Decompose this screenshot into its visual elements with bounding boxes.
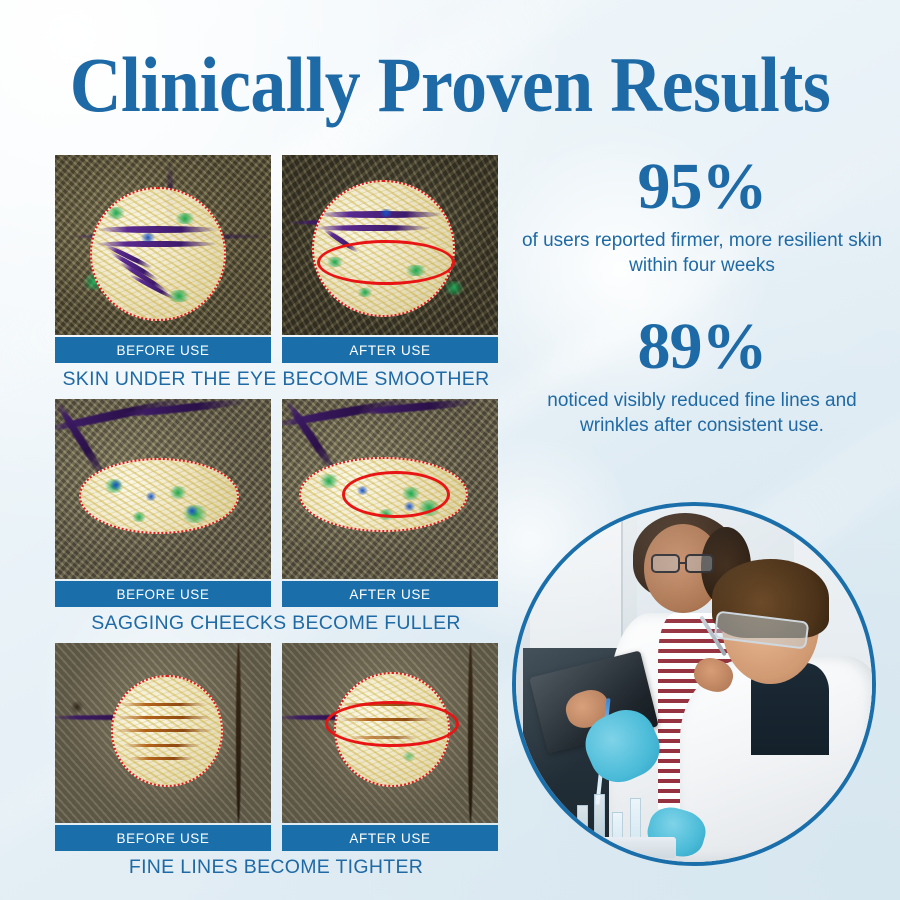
before-use-label: BEFORE USE [55,825,271,851]
eyeglasses-icon [651,554,679,573]
poster-canvas: Clinically Proven Results [0,0,900,900]
before-use-label: BEFORE USE [55,581,271,607]
stat-value: 95% [512,152,892,222]
comparison-row: BEFORE USE [55,155,497,391]
row-caption: SKIN UNDER THE EYE BECOME SMOOTHER [55,363,497,391]
comparison-row: BEFORE USE [55,399,497,635]
after-use-label: AFTER USE [282,825,498,851]
eyeglasses-icon [685,554,713,573]
before-use-label: BEFORE USE [55,337,271,363]
analysis-region [79,458,239,534]
after-panel: AFTER USE [282,399,498,607]
analysis-region [299,457,467,533]
after-use-label: AFTER USE [282,581,498,607]
after-photo [282,399,498,579]
stat-description: noticed visibly reduced fine lines and w… [512,382,892,438]
row-caption: FINE LINES BECOME TIGHTER [55,851,497,879]
after-use-label: AFTER USE [282,337,498,363]
stat-description: of users reported firmer, more resilient… [512,222,892,278]
lab-photo-circle [512,502,876,866]
after-panel: AFTER USE [282,155,498,363]
test-tube-rack [569,837,676,858]
analysis-region [90,187,226,320]
stat-block-95: 95% of users reported firmer, more resil… [512,152,892,278]
before-panel: BEFORE USE [55,399,271,607]
analysis-region [312,180,455,317]
after-panel: AFTER USE [282,643,498,851]
before-photo [55,155,271,335]
stat-value: 89% [512,312,892,382]
after-photo [282,643,498,823]
stat-block-89: 89% noticed visibly reduced fine lines a… [512,312,892,438]
before-photo [55,399,271,579]
comparison-row: BEFORE USE [55,643,497,879]
row-caption: SAGGING CHEECKS BECOME FULLER [55,607,497,635]
before-panel: BEFORE USE [55,643,271,851]
lab-scene [516,506,872,862]
before-photo [55,643,271,823]
analysis-region [111,675,223,787]
comparison-rows: BEFORE USE [55,155,497,887]
page-title: Clinically Proven Results [36,42,864,128]
before-panel: BEFORE USE [55,155,271,363]
analysis-region [334,672,451,787]
after-photo [282,155,498,335]
